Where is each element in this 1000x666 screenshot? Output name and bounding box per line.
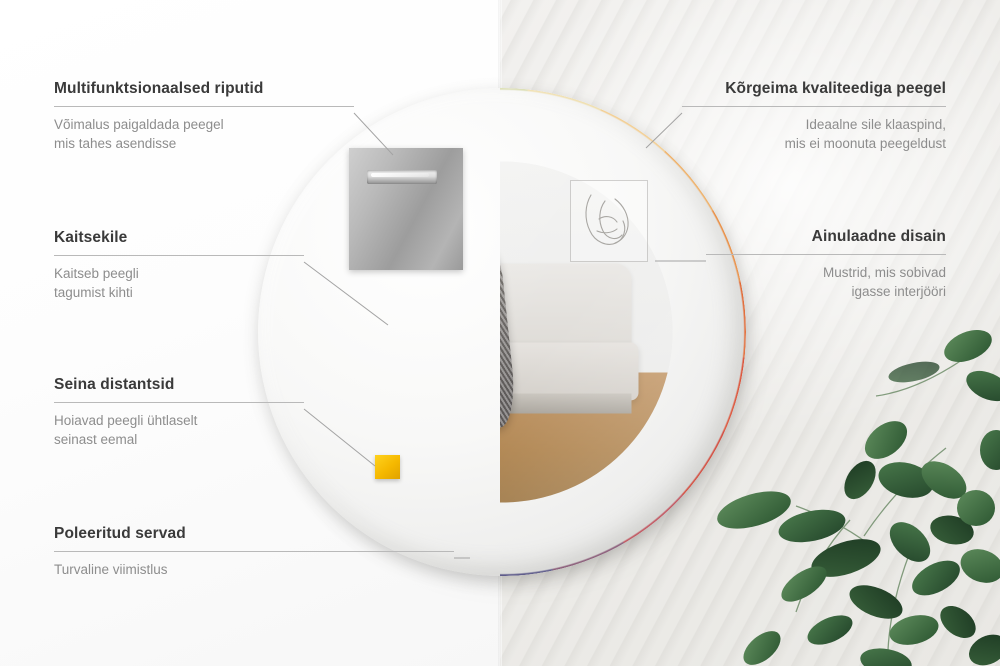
callout-rule [54,402,304,403]
callout-description: Mustrid, mis sobivad igasse interjööri [706,264,946,302]
callout-title: Multifunktsionaalsed riputid [54,80,354,97]
callout-rule [682,106,946,107]
mirror-disc [258,88,746,576]
wall-spacer [375,455,400,479]
callout-title: Kaitsekile [54,229,304,246]
callout-title: Kõrgeima kvaliteediga peegel [646,80,946,97]
callout-multifunctional-hangers: Multifunktsionaalsed riputid Võimalus pa… [54,80,354,154]
bracket-hanger-slot [367,170,437,184]
callout-unique-design: Ainulaadne disain Mustrid, mis sobivad i… [706,228,946,302]
callout-rule [54,106,354,107]
infographic-canvas: Multifunktsionaalsed riputid Võimalus pa… [0,0,1000,666]
callout-title: Ainulaadne disain [706,228,946,245]
callout-description: Kaitseb peegli tagumist kihti [54,265,304,303]
callout-description: Hoiavad peegli ühtlaselt seinast eemal [54,412,304,450]
callout-wall-spacers: Seina distantsid Hoiavad peegli ühtlasel… [54,376,304,450]
callout-description: Ideaalne sile klaaspind, mis ei moonuta … [646,116,946,154]
callout-rule [54,551,454,552]
hanging-bracket [349,148,463,270]
callout-rule [706,254,946,255]
callout-title: Poleeritud servad [54,525,454,542]
callout-polished-edges: Poleeritud servad Turvaline viimistlus [54,525,454,580]
callout-highest-quality-mirror: Kõrgeima kvaliteediga peegel Ideaalne si… [646,80,946,154]
callout-description: Turvaline viimistlus [54,561,454,580]
callout-title: Seina distantsid [54,376,304,393]
round-mirror [258,88,746,576]
mirror-front-half [500,88,746,576]
callout-description: Võimalus paigaldada peegel mis tahes ase… [54,116,354,154]
callout-protective-film: Kaitsekile Kaitseb peegli tagumist kihti [54,229,304,303]
callout-rule [54,255,304,256]
line-art-watermark-icon [570,180,648,262]
